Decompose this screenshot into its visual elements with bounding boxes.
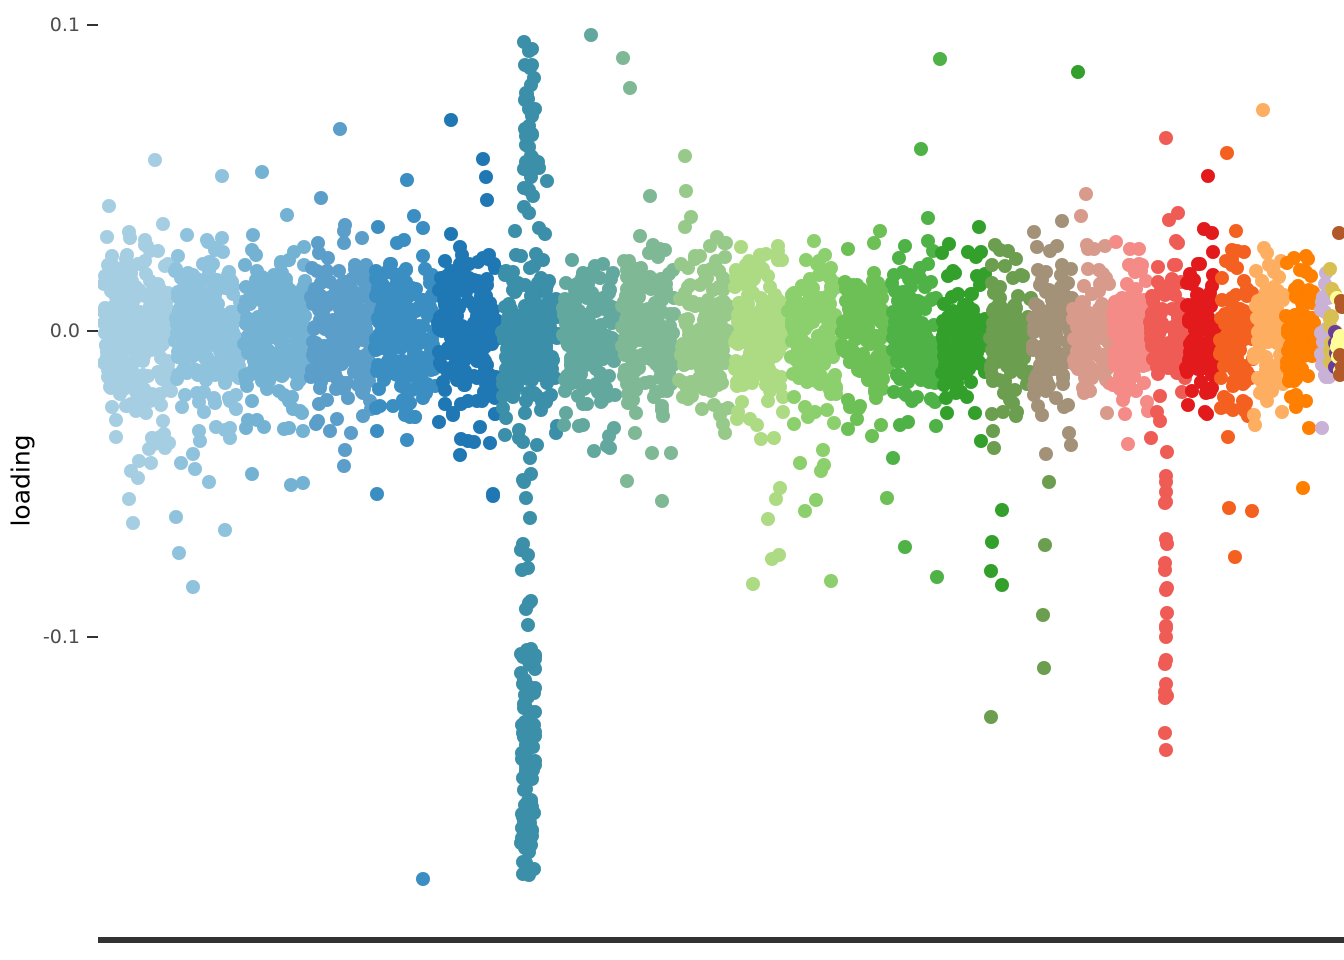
scatter-point	[910, 390, 924, 404]
scatter-point	[1251, 371, 1265, 385]
scatter-point	[1297, 323, 1311, 337]
scatter-point	[131, 471, 145, 485]
scatter-point	[765, 296, 779, 310]
outlier-point-high-green	[1071, 65, 1085, 79]
outlier-point-red-trail	[1159, 495, 1173, 509]
outlier-point-lower-trail	[523, 511, 537, 525]
scatter-point	[102, 199, 116, 213]
scatter-point	[900, 314, 914, 328]
scatter-point	[1289, 372, 1303, 386]
chart-root: loading 0.10.0-0.1	[0, 0, 1344, 960]
scatter-point	[1206, 245, 1220, 259]
scatter-point	[1201, 169, 1215, 183]
scatter-point	[250, 413, 264, 427]
scatter-point	[676, 390, 690, 404]
scatter-point	[1064, 438, 1078, 452]
scatter-point	[218, 376, 232, 390]
scatter-point	[453, 240, 467, 254]
scatter-point	[827, 374, 841, 388]
scatter-point	[936, 314, 950, 328]
scatter-point	[239, 373, 253, 387]
scatter-point	[709, 350, 723, 364]
scatter-point	[1153, 389, 1167, 403]
scatter-point	[337, 459, 351, 473]
scatter-point	[557, 418, 571, 432]
scatter-point	[309, 417, 323, 431]
scatter-point	[648, 328, 662, 342]
scatter-point	[475, 394, 489, 408]
scatter-point	[1074, 209, 1088, 223]
scatter-point	[441, 366, 455, 380]
y-axis-ticks: 0.10.0-0.1	[0, 0, 98, 960]
scatter-point	[1304, 269, 1318, 283]
scatter-point	[565, 253, 579, 267]
scatter-point	[628, 426, 642, 440]
scatter-point	[896, 330, 910, 344]
scatter-point	[735, 395, 749, 409]
scatter-point	[356, 311, 370, 325]
scatter-point	[1228, 550, 1242, 564]
y-tick-2: -0.1	[0, 626, 98, 648]
scatter-point	[498, 268, 512, 282]
scatter-point	[476, 152, 490, 166]
scatter-point	[1121, 437, 1135, 451]
scatter-point	[808, 338, 822, 352]
scatter-point	[1085, 363, 1099, 377]
scatter-point	[171, 345, 185, 359]
scatter-point	[853, 293, 867, 307]
scatter-point	[1071, 362, 1085, 376]
scatter-point	[730, 412, 744, 426]
scatter-point	[460, 328, 474, 342]
scatter-point	[559, 276, 573, 290]
scatter-point	[898, 540, 912, 554]
scatter-point	[1332, 226, 1344, 240]
outlier-point-lightgreen-tail	[769, 492, 783, 506]
scatter-point	[433, 310, 447, 324]
scatter-point	[373, 399, 387, 413]
scatter-point	[653, 362, 667, 376]
scatter-point	[1315, 421, 1329, 435]
scatter-point	[850, 412, 864, 426]
scatter-point	[416, 249, 430, 263]
scatter-point	[914, 142, 928, 156]
scatter-point	[338, 443, 352, 457]
outlier-point-red-trail	[1158, 563, 1172, 577]
scatter-point	[969, 250, 983, 264]
y-tick-mark	[87, 24, 98, 26]
scatter-points-layer	[98, 0, 1344, 925]
scatter-point	[1296, 481, 1310, 495]
scatter-point	[508, 224, 522, 238]
scatter-point	[787, 324, 801, 338]
scatter-point	[1234, 311, 1248, 325]
scatter-point	[880, 491, 894, 505]
outlier-point-red-trail	[1159, 583, 1173, 597]
scatter-point	[948, 326, 962, 340]
y-tick-mark	[87, 636, 98, 638]
scatter-point	[972, 220, 986, 234]
plot-panel	[98, 0, 1344, 925]
outlier-point-top-spike	[522, 206, 536, 220]
outlier-point-olive-tail	[1037, 661, 1051, 675]
scatter-point	[952, 312, 966, 326]
scatter-point	[139, 345, 153, 359]
scatter-point	[512, 423, 526, 437]
scatter-point	[219, 330, 233, 344]
scatter-point	[837, 315, 851, 329]
scatter-point	[1027, 320, 1041, 334]
scatter-point	[1027, 388, 1041, 402]
scatter-point	[372, 362, 386, 376]
scatter-point	[1039, 447, 1053, 461]
scatter-point	[540, 174, 554, 188]
scatter-point	[622, 254, 636, 268]
scatter-point	[264, 363, 278, 377]
scatter-point	[444, 227, 458, 241]
scatter-point	[174, 456, 188, 470]
scatter-point	[546, 353, 560, 367]
scatter-point	[127, 304, 141, 318]
outlier-point-red-trail	[1160, 537, 1174, 551]
scatter-point	[371, 220, 385, 234]
scatter-point	[622, 319, 636, 333]
scatter-point	[1222, 501, 1236, 515]
scatter-point	[1262, 382, 1276, 396]
scatter-point	[937, 378, 951, 392]
scatter-point	[536, 253, 550, 267]
scatter-point	[822, 263, 836, 277]
scatter-point	[387, 267, 401, 281]
scatter-point	[186, 580, 200, 594]
scatter-point	[1151, 260, 1165, 274]
outlier-point-olive-tail	[1036, 608, 1050, 622]
scatter-point	[1245, 504, 1259, 518]
y-tick-label: 0.1	[50, 14, 80, 36]
scatter-point	[558, 373, 572, 387]
scatter-point	[479, 289, 493, 303]
scatter-point	[496, 372, 510, 386]
scatter-point	[623, 81, 637, 95]
scatter-point	[467, 435, 481, 449]
scatter-point	[659, 340, 673, 354]
scatter-point	[453, 448, 467, 462]
scatter-point	[616, 51, 630, 65]
scatter-point	[161, 383, 175, 397]
scatter-point	[993, 280, 1007, 294]
scatter-point	[940, 406, 954, 420]
scatter-point	[460, 372, 474, 386]
outlier-point-lower-trail	[519, 602, 533, 616]
scatter-point	[817, 458, 831, 472]
scatter-point	[718, 250, 732, 264]
outlier-point-lower-trail	[521, 548, 535, 562]
scatter-point	[314, 191, 328, 205]
scatter-point	[589, 362, 603, 376]
scatter-point	[639, 346, 653, 360]
y-tick-label: -0.1	[43, 626, 80, 648]
scatter-point	[986, 424, 1000, 438]
scatter-point	[597, 387, 611, 401]
scatter-point	[280, 208, 294, 222]
scatter-point	[874, 418, 888, 432]
scatter-point	[199, 328, 213, 342]
scatter-point	[454, 397, 468, 411]
scatter-point	[386, 399, 400, 413]
scatter-point	[821, 320, 835, 334]
scatter-point	[913, 271, 927, 285]
scatter-point	[921, 211, 935, 225]
scatter-point	[480, 193, 494, 207]
scatter-point	[1061, 276, 1075, 290]
scatter-point	[255, 165, 269, 179]
scatter-point	[1257, 241, 1271, 255]
scatter-point	[267, 324, 281, 338]
scatter-point	[245, 467, 259, 481]
scatter-point	[561, 338, 575, 352]
scatter-point	[974, 434, 988, 448]
outlier-point-red-trail	[1160, 689, 1174, 703]
scatter-point	[486, 489, 500, 503]
scatter-point	[655, 494, 669, 508]
scatter-point	[846, 278, 860, 292]
scatter-point	[245, 394, 259, 408]
scatter-point	[776, 405, 790, 419]
scatter-point	[645, 446, 659, 460]
scatter-point	[323, 424, 337, 438]
scatter-point	[675, 375, 689, 389]
scatter-point	[794, 303, 808, 317]
outlier-point-lower-trail	[516, 435, 530, 449]
scatter-point	[561, 315, 575, 329]
scatter-point	[151, 244, 165, 258]
outlier-point-lower-trail	[515, 563, 529, 577]
scatter-point	[533, 300, 547, 314]
scatter-point	[871, 290, 885, 304]
scatter-point	[1092, 284, 1106, 298]
scatter-point	[1003, 393, 1017, 407]
scatter-point	[1166, 349, 1180, 363]
y-tick-label: 0.0	[50, 320, 80, 342]
scatter-point	[1122, 258, 1136, 272]
scatter-point	[1158, 288, 1172, 302]
scatter-point	[930, 570, 944, 584]
scatter-point	[504, 331, 518, 345]
scatter-point	[1162, 213, 1176, 227]
outlier-point-red-trail	[1160, 606, 1174, 620]
scatter-point	[498, 428, 512, 442]
scatter-point	[1159, 131, 1173, 145]
scatter-point	[397, 233, 411, 247]
scatter-point	[296, 476, 310, 490]
scatter-point	[1118, 320, 1132, 334]
scatter-point	[296, 424, 310, 438]
scatter-point	[917, 326, 931, 340]
scatter-point	[1077, 386, 1091, 400]
scatter-point	[787, 417, 801, 431]
scatter-point	[416, 221, 430, 235]
scatter-point	[1224, 351, 1238, 365]
scatter-point	[1118, 407, 1132, 421]
scatter-point	[1248, 418, 1262, 432]
scatter-point	[663, 307, 677, 321]
scatter-point	[1120, 277, 1134, 291]
scatter-point	[666, 326, 680, 340]
scatter-point	[744, 275, 758, 289]
scatter-point	[988, 238, 1002, 252]
scatter-point	[188, 462, 202, 476]
scatter-point	[1302, 421, 1316, 435]
scatter-point	[1281, 322, 1295, 336]
scatter-point	[816, 443, 830, 457]
scatter-point	[447, 295, 461, 309]
outlier-point-green-tail	[995, 503, 1009, 517]
scatter-point	[1289, 400, 1303, 414]
scatter-point	[370, 487, 384, 501]
scatter-point	[803, 286, 817, 300]
scatter-point	[809, 493, 823, 507]
scatter-point	[483, 436, 497, 450]
scatter-point	[620, 474, 634, 488]
scatter-point	[754, 432, 768, 446]
scatter-point	[633, 229, 647, 243]
scatter-point	[180, 228, 194, 242]
scatter-point	[939, 391, 953, 405]
scatter-point	[496, 401, 510, 415]
scatter-point	[761, 394, 775, 408]
scatter-point	[333, 122, 347, 136]
outlier-point-high-green	[933, 52, 947, 66]
scatter-point	[281, 312, 295, 326]
scatter-point	[868, 275, 882, 289]
scatter-point	[1181, 398, 1195, 412]
scatter-point	[746, 577, 760, 591]
scatter-point	[376, 278, 390, 292]
scatter-point	[737, 335, 751, 349]
scatter-point	[144, 456, 158, 470]
scatter-point	[1151, 328, 1165, 342]
scatter-point	[649, 300, 663, 314]
scatter-point	[678, 149, 692, 163]
outlier-point-bottom-cluster	[522, 655, 536, 669]
scatter-point	[1027, 225, 1041, 239]
scatter-point	[602, 429, 616, 443]
scatter-point	[576, 397, 590, 411]
scatter-point	[970, 269, 984, 283]
outlier-point-green-tail	[995, 578, 1009, 592]
scatter-point	[476, 251, 490, 265]
scatter-point	[582, 284, 596, 298]
outlier-point-bottom-cluster	[518, 688, 532, 702]
outlier-point-top-spike	[519, 155, 533, 169]
scatter-point	[105, 400, 119, 414]
scatter-point	[1188, 304, 1202, 318]
scatter-point	[664, 446, 678, 460]
scatter-point	[370, 424, 384, 438]
scatter-point	[621, 387, 635, 401]
scatter-point	[941, 269, 955, 283]
outlier-point-lower-trail	[518, 406, 532, 420]
scatter-point	[246, 228, 260, 242]
scatter-point	[344, 353, 358, 367]
scatter-point	[984, 710, 998, 724]
scatter-point	[685, 330, 699, 344]
scatter-point	[98, 326, 112, 340]
outlier-point-red-trail	[1159, 630, 1173, 644]
y-tick-mark	[87, 330, 98, 332]
scatter-point	[679, 184, 693, 198]
scatter-point	[643, 189, 657, 203]
scatter-point	[125, 356, 139, 370]
scatter-point	[753, 248, 767, 262]
scatter-point	[1081, 262, 1095, 276]
scatter-point	[1100, 406, 1114, 420]
scatter-point	[156, 414, 170, 428]
scatter-point	[330, 412, 344, 426]
scatter-point	[886, 451, 900, 465]
scatter-point	[1109, 235, 1123, 249]
scatter-point	[767, 345, 781, 359]
outlier-point-lower-trail	[524, 467, 538, 481]
outlier-point-olive-tail	[1038, 538, 1052, 552]
scatter-point	[887, 268, 901, 282]
scatter-point	[789, 353, 803, 367]
scatter-point	[340, 335, 354, 349]
scatter-point	[772, 378, 786, 392]
scatter-point	[453, 257, 467, 271]
scatter-point	[893, 418, 907, 432]
scatter-point	[1039, 358, 1053, 372]
scatter-point	[356, 409, 370, 423]
outlier-point-green-tail	[985, 535, 999, 549]
scatter-point	[530, 438, 544, 452]
outlier-point-red-trail	[1160, 445, 1174, 459]
scatter-point	[921, 234, 935, 248]
scatter-point	[344, 426, 358, 440]
scatter-point	[471, 274, 485, 288]
scatter-point	[946, 342, 960, 356]
scatter-point	[1096, 267, 1110, 281]
scatter-point	[914, 366, 928, 380]
scatter-point	[559, 297, 573, 311]
scatter-point	[1301, 369, 1315, 383]
scatter-point	[306, 348, 320, 362]
scatter-point	[945, 290, 959, 304]
scatter-point	[226, 317, 240, 331]
scatter-point	[867, 236, 881, 250]
scatter-point	[841, 242, 855, 256]
scatter-point	[1083, 327, 1097, 341]
scatter-point	[267, 268, 281, 282]
scatter-point	[873, 329, 887, 343]
scatter-point	[129, 385, 143, 399]
scatter-point	[892, 251, 906, 265]
scatter-point	[695, 402, 709, 416]
scatter-point	[120, 248, 134, 262]
scatter-point	[1255, 274, 1269, 288]
scatter-point	[156, 217, 170, 231]
scatter-point	[1144, 431, 1158, 445]
scatter-point	[968, 406, 982, 420]
scatter-point	[801, 410, 815, 424]
scatter-point	[119, 399, 133, 413]
scatter-point	[454, 432, 468, 446]
scatter-point	[244, 295, 258, 309]
outlier-point-lightgreen-tail	[761, 512, 775, 526]
scatter-point	[401, 285, 415, 299]
scatter-point	[1230, 370, 1244, 384]
scatter-point	[171, 249, 185, 263]
